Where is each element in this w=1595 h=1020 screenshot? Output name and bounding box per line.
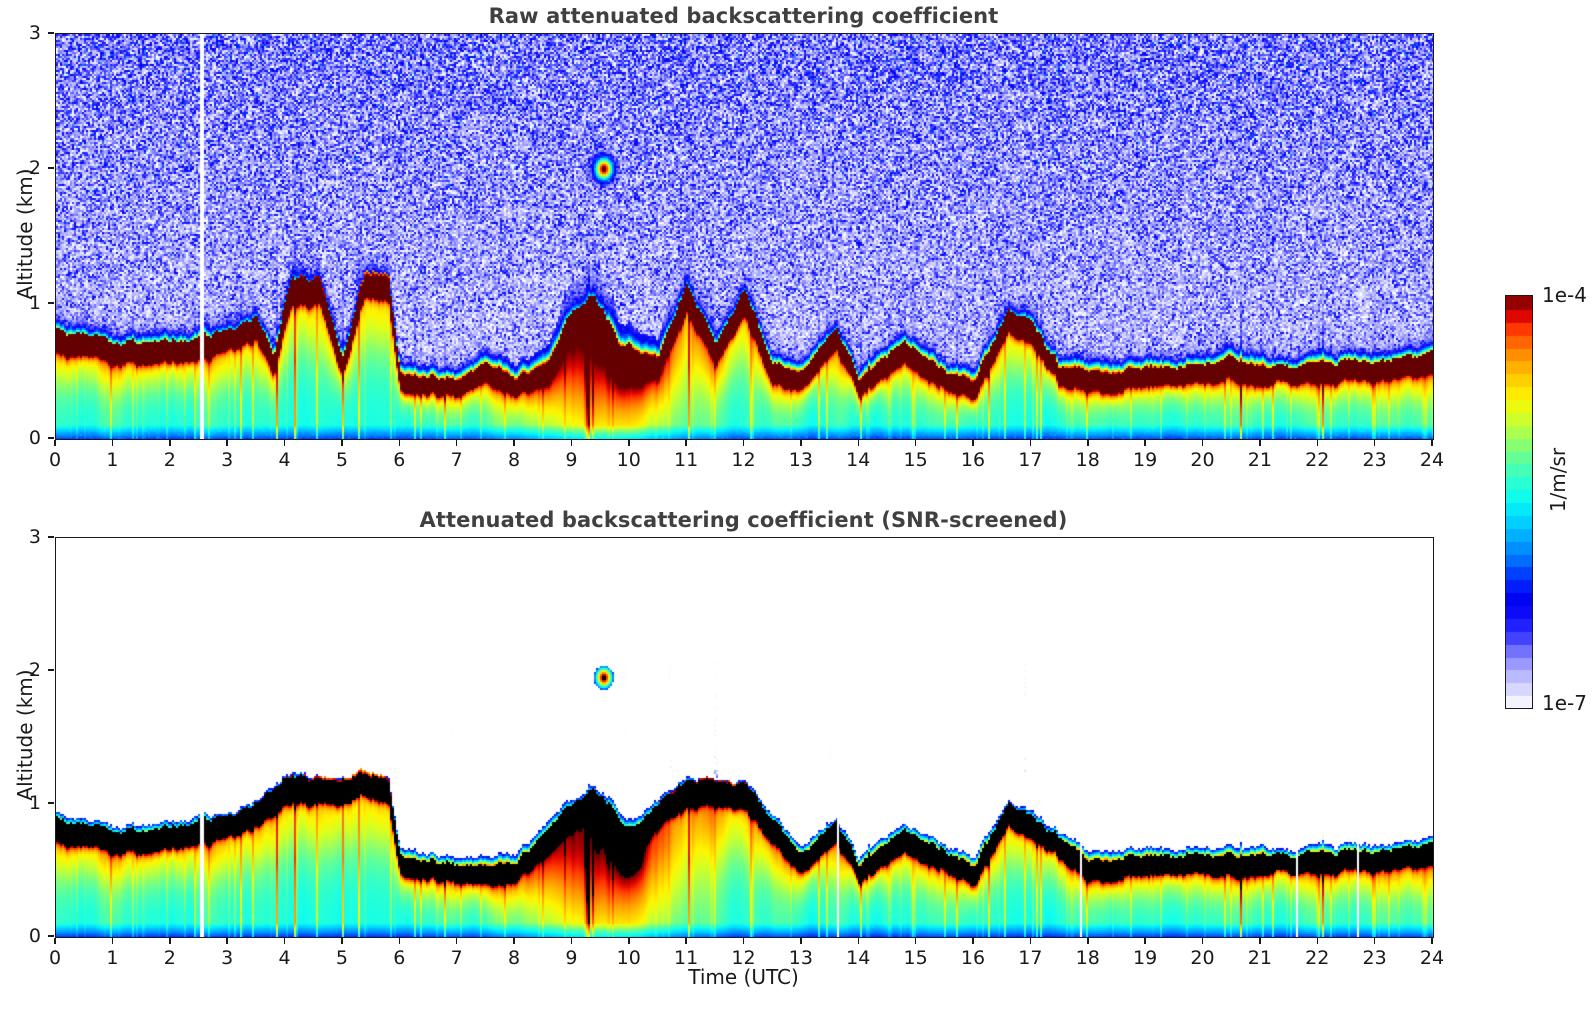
heatmap-screened: [56, 538, 1433, 937]
x-tick-screened-4: [284, 938, 286, 944]
x-tick-screened-1: [112, 938, 114, 944]
y-tick-screened-0: [48, 935, 54, 937]
x-ticklabel-raw-19: 19: [1133, 449, 1157, 471]
x-ticklabel-raw-3: 3: [221, 449, 233, 471]
x-tick-raw-10: [628, 440, 630, 446]
x-ticklabel-raw-17: 17: [1018, 449, 1042, 471]
x-ticklabel-raw-22: 22: [1305, 449, 1329, 471]
x-tick-raw-18: [1087, 440, 1089, 446]
x-tick-screened-16: [972, 938, 974, 944]
x-ticklabel-screened-18: 18: [1076, 947, 1100, 969]
x-ticklabel-screened-11: 11: [674, 947, 698, 969]
x-ticklabel-raw-20: 20: [1190, 449, 1214, 471]
panel-screened-backscatter[interactable]: [55, 537, 1434, 938]
x-ticklabel-raw-14: 14: [846, 449, 870, 471]
x-tick-screened-9: [571, 938, 573, 944]
x-ticklabel-screened-20: 20: [1190, 947, 1214, 969]
x-tick-screened-15: [915, 938, 917, 944]
colorbar[interactable]: [1505, 295, 1533, 709]
x-tick-screened-8: [513, 938, 515, 944]
y-tick-raw-3: [48, 32, 54, 34]
x-ticklabel-screened-19: 19: [1133, 947, 1157, 969]
x-ticklabel-raw-23: 23: [1363, 449, 1387, 471]
x-tick-raw-6: [399, 440, 401, 446]
y-ticklabel-raw-2: 2: [3, 157, 41, 179]
x-tick-screened-18: [1087, 938, 1089, 944]
x-tick-raw-14: [858, 440, 860, 446]
x-tick-raw-13: [800, 440, 802, 446]
y-ticklabel-screened-2: 2: [3, 659, 41, 681]
y-ticklabel-screened-1: 1: [3, 792, 41, 814]
x-tick-raw-17: [1030, 440, 1032, 446]
y-ticklabel-screened-3: 3: [3, 526, 41, 548]
x-ticklabel-raw-0: 0: [49, 449, 61, 471]
x-ticklabel-screened-24: 24: [1420, 947, 1444, 969]
x-ticklabel-raw-10: 10: [617, 449, 641, 471]
x-ticklabel-screened-1: 1: [106, 947, 118, 969]
x-tick-screened-7: [456, 938, 458, 944]
x-tick-raw-21: [1259, 440, 1261, 446]
x-tick-screened-20: [1202, 938, 1204, 944]
x-tick-raw-7: [456, 440, 458, 446]
x-ticklabel-screened-5: 5: [336, 947, 348, 969]
x-tick-screened-5: [341, 938, 343, 944]
x-tick-screened-10: [628, 938, 630, 944]
y-ticklabel-screened-0: 0: [3, 925, 41, 947]
x-ticklabel-raw-5: 5: [336, 449, 348, 471]
x-tick-raw-3: [226, 440, 228, 446]
x-ticklabel-screened-16: 16: [961, 947, 985, 969]
colorbar-min-label: 1e-7: [1542, 691, 1587, 715]
x-ticklabel-raw-11: 11: [674, 449, 698, 471]
x-tick-screened-14: [858, 938, 860, 944]
x-tick-raw-5: [341, 440, 343, 446]
x-tick-screened-0: [54, 938, 56, 944]
colorbar-max-label: 1e-4: [1542, 283, 1587, 307]
x-tick-raw-22: [1317, 440, 1319, 446]
x-tick-raw-11: [685, 440, 687, 446]
x-ticklabel-raw-13: 13: [789, 449, 813, 471]
x-tick-screened-22: [1317, 938, 1319, 944]
x-ticklabel-screened-0: 0: [49, 947, 61, 969]
x-tick-raw-9: [571, 440, 573, 446]
x-tick-raw-24: [1431, 440, 1433, 446]
x-ticklabel-screened-13: 13: [789, 947, 813, 969]
x-tick-raw-15: [915, 440, 917, 446]
x-tick-screened-2: [169, 938, 171, 944]
x-tick-screened-17: [1030, 938, 1032, 944]
x-tick-screened-6: [399, 938, 401, 944]
x-tick-screened-23: [1374, 938, 1376, 944]
x-tick-screened-3: [226, 938, 228, 944]
y-ticklabel-raw-3: 3: [3, 22, 41, 44]
x-tick-raw-12: [743, 440, 745, 446]
x-ticklabel-raw-9: 9: [565, 449, 577, 471]
x-tick-raw-0: [54, 440, 56, 446]
x-tick-screened-19: [1144, 938, 1146, 944]
y-ticklabel-raw-0: 0: [3, 427, 41, 449]
x-ticklabel-raw-6: 6: [393, 449, 405, 471]
x-ticklabel-screened-12: 12: [731, 947, 755, 969]
x-tick-screened-12: [743, 938, 745, 944]
x-ticklabel-screened-9: 9: [565, 947, 577, 969]
x-ticklabel-raw-2: 2: [164, 449, 176, 471]
panel-title-raw: Raw attenuated backscattering coefficien…: [55, 4, 1432, 28]
x-ticklabel-screened-2: 2: [164, 947, 176, 969]
x-ticklabel-screened-10: 10: [617, 947, 641, 969]
x-ticklabel-raw-8: 8: [508, 449, 520, 471]
y-tick-screened-3: [48, 536, 54, 538]
x-ticklabel-screened-4: 4: [278, 947, 290, 969]
x-ticklabel-raw-1: 1: [106, 449, 118, 471]
lidar-backscatter-figure: Raw attenuated backscattering coefficien…: [0, 0, 1595, 1020]
x-ticklabel-screened-22: 22: [1305, 947, 1329, 969]
x-ticklabel-raw-4: 4: [278, 449, 290, 471]
x-ticklabel-screened-17: 17: [1018, 947, 1042, 969]
y-tick-raw-1: [48, 302, 54, 304]
y-tick-screened-1: [48, 802, 54, 804]
x-tick-raw-2: [169, 440, 171, 446]
y-tick-screened-2: [48, 669, 54, 671]
heatmap-raw: [56, 34, 1433, 439]
x-tick-raw-16: [972, 440, 974, 446]
x-ticklabel-screened-6: 6: [393, 947, 405, 969]
x-tick-screened-21: [1259, 938, 1261, 944]
x-tick-raw-20: [1202, 440, 1204, 446]
x-ticklabel-screened-21: 21: [1248, 947, 1272, 969]
x-tick-raw-4: [284, 440, 286, 446]
x-ticklabel-screened-7: 7: [451, 947, 463, 969]
x-ticklabel-raw-12: 12: [731, 449, 755, 471]
x-tick-raw-23: [1374, 440, 1376, 446]
x-ticklabel-raw-21: 21: [1248, 449, 1272, 471]
colorbar-unit-label: 1/m/sr: [1546, 400, 1570, 560]
panel-title-screened: Attenuated backscattering coefficient (S…: [55, 508, 1432, 532]
x-tick-screened-13: [800, 938, 802, 944]
x-ticklabel-screened-23: 23: [1363, 947, 1387, 969]
x-tick-raw-1: [112, 440, 114, 446]
x-tick-raw-19: [1144, 440, 1146, 446]
x-ticklabel-raw-18: 18: [1076, 449, 1100, 471]
x-tick-raw-8: [513, 440, 515, 446]
panel-raw-backscatter[interactable]: [55, 33, 1434, 440]
x-tick-screened-24: [1431, 938, 1433, 944]
x-ticklabel-raw-16: 16: [961, 449, 985, 471]
y-tick-raw-2: [48, 167, 54, 169]
x-ticklabel-screened-15: 15: [904, 947, 928, 969]
x-ticklabel-raw-7: 7: [451, 449, 463, 471]
y-tick-raw-0: [48, 437, 54, 439]
x-tick-screened-11: [685, 938, 687, 944]
x-ticklabel-raw-15: 15: [904, 449, 928, 471]
x-ticklabel-screened-14: 14: [846, 947, 870, 969]
x-ticklabel-screened-3: 3: [221, 947, 233, 969]
colorbar-gradient: [1506, 296, 1532, 708]
y-ticklabel-raw-1: 1: [3, 292, 41, 314]
x-ticklabel-raw-24: 24: [1420, 449, 1444, 471]
x-ticklabel-screened-8: 8: [508, 947, 520, 969]
